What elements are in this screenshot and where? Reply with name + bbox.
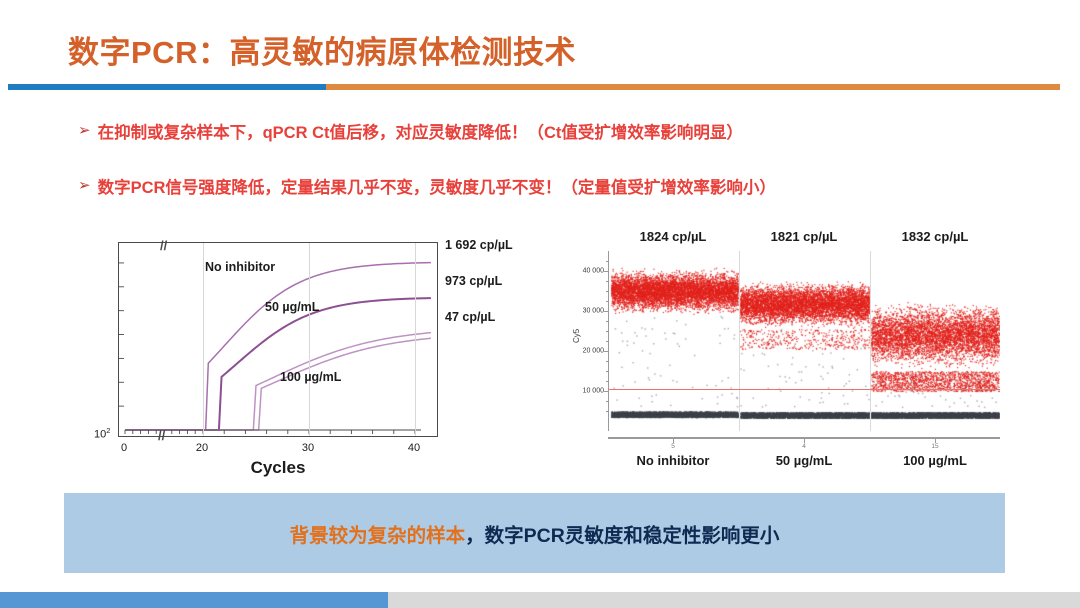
title-underline-orange xyxy=(326,84,1060,90)
qpcr-conc-label-3: 47 cp/µL xyxy=(445,310,545,324)
bullet-arrow-icon: ➢ xyxy=(78,178,91,193)
footer-strip-blue xyxy=(0,592,388,608)
qpcr-xaxis-ticklabels: 0203040 xyxy=(118,442,438,458)
ddpcr-ytick-10000: 10 000 xyxy=(583,388,604,395)
ddpcr-ytick-minor xyxy=(606,291,609,292)
ddpcr-ytick-minor xyxy=(606,371,609,372)
bullet-item-2: ➢ 数字PCR信号强度降低，定量结果几乎不变，灵敏度几乎不变！（定量值受扩增效率… xyxy=(78,174,776,198)
summary-banner-text: 背景较为复杂的样本，数字PCR灵敏度和稳定性影响更小 xyxy=(290,519,780,548)
summary-banner: 背景较为复杂的样本，数字PCR灵敏度和稳定性影响更小 xyxy=(64,493,1005,573)
footer-strip-gray xyxy=(388,592,1080,608)
ddpcr-xtick-label: 4 xyxy=(802,443,806,450)
qpcr-conc-label-1: 1 692 cp/µL xyxy=(445,238,545,252)
ddpcr-ytick-30000: 30 000 xyxy=(583,308,604,315)
summary-banner-highlight: 背景较为复杂的样本 xyxy=(290,525,466,547)
page-title: 数字PCR：高灵敏的病原体检测技术 xyxy=(68,27,576,72)
ddpcr-ytick-minor xyxy=(606,381,609,382)
bullet-text-2: 数字PCR信号强度降低，定量结果几乎不变，灵敏度几乎不变！（定量值受扩增效率影响… xyxy=(98,174,776,198)
ddpcr-concentration-1: 1824 cp/µL xyxy=(640,229,707,244)
ddpcr-ytick-20000: 20 000 xyxy=(583,348,604,355)
ddpcr-scatter-canvas xyxy=(609,251,1000,431)
summary-banner-rest: ，数字PCR灵敏度和稳定性影响更小 xyxy=(465,525,779,547)
qpcr-annotation-50ug: 50 µg/mL xyxy=(265,300,319,314)
qpcr-curve xyxy=(125,298,431,430)
ddpcr-group-labels: No inhibitor50 µg/mL100 µg/mL xyxy=(608,453,1003,473)
qpcr-ytick-label: 102 xyxy=(94,426,110,441)
ddpcr-ytick-minor xyxy=(606,311,609,312)
footer-strip xyxy=(0,592,1080,608)
ddpcr-yaxis-title: Cy5 xyxy=(572,329,581,343)
ddpcr-ytick-minor xyxy=(606,391,609,392)
qpcr-gridline xyxy=(309,243,310,436)
figure-row: // // 102 0203040 Cycles 1 692 cp/µL 973… xyxy=(0,225,1080,490)
qpcr-curve xyxy=(125,338,431,430)
qpcr-gridline xyxy=(415,243,416,436)
qpcr-xaxis-break-bottom: // xyxy=(158,428,165,443)
qpcr-annotation-100ug: 100 µg/mL xyxy=(280,370,341,384)
ddpcr-ytick-minor xyxy=(606,331,609,332)
ddpcr-ytick-40000: 40 000 xyxy=(583,268,604,275)
bullet-text-1: 在抑制或复杂样本下，qPCR Ct值后移，对应灵敏度降低！（Ct值受扩增效率影响… xyxy=(98,119,743,143)
ddpcr-ytick-minor xyxy=(606,341,609,342)
qpcr-amplification-chart: // // 102 0203040 Cycles 1 692 cp/µL 973… xyxy=(100,230,540,485)
title-underline-blue xyxy=(8,84,326,90)
ddpcr-xtick-label: 15 xyxy=(931,443,938,450)
ddpcr-ytick-minor xyxy=(606,351,609,352)
ddpcr-concentration-3: 1832 cp/µL xyxy=(902,229,969,244)
qpcr-xaxis-break-top: // xyxy=(160,238,167,253)
ddpcr-group-separator xyxy=(870,251,871,431)
ddpcr-ytick-minor xyxy=(606,261,609,262)
ddpcr-ytick-minor xyxy=(606,401,609,402)
ddpcr-group-label-1: No inhibitor xyxy=(637,453,710,468)
ddpcr-concentration-2: 1821 cp/µL xyxy=(771,229,838,244)
ddpcr-ytick-minor xyxy=(606,361,609,362)
ddpcr-threshold-line xyxy=(609,389,1000,390)
qpcr-plot-area xyxy=(118,242,438,437)
qpcr-curves xyxy=(119,243,439,438)
qpcr-conc-label-2: 973 cp/µL xyxy=(445,274,545,288)
slide-root: 数字PCR：高灵敏的病原体检测技术 ➢ 在抑制或复杂样本下，qPCR Ct值后移… xyxy=(0,0,1080,608)
ddpcr-ytick-minor xyxy=(606,271,609,272)
qpcr-gridline xyxy=(203,243,204,436)
bullet-arrow-icon: ➢ xyxy=(78,123,91,138)
ddpcr-plot-area xyxy=(608,251,1000,431)
ddpcr-ytick-minor xyxy=(606,411,609,412)
qpcr-xtick-0: 0 xyxy=(121,442,127,454)
qpcr-xtick-40: 40 xyxy=(408,442,420,454)
title-underline xyxy=(8,84,1060,90)
ddpcr-ytick-minor xyxy=(606,301,609,302)
ddpcr-concentration-labels: 1824 cp/µL1821 cp/µL1832 cp/µL xyxy=(608,229,1003,249)
ddpcr-droplet-chart: 1824 cp/µL1821 cp/µL1832 cp/µL 10 00020 … xyxy=(560,225,1010,487)
bullet-item-1: ➢ 在抑制或复杂样本下，qPCR Ct值后移，对应灵敏度降低！（Ct值受扩增效率… xyxy=(78,119,743,143)
ddpcr-ytick-minor xyxy=(606,281,609,282)
ddpcr-ytick-minor xyxy=(606,321,609,322)
qpcr-xaxis-title: Cycles xyxy=(118,458,438,478)
ddpcr-group-label-3: 100 µg/mL xyxy=(903,453,967,468)
ddpcr-group-label-2: 50 µg/mL xyxy=(776,453,833,468)
qpcr-xtick-20: 20 xyxy=(196,442,208,454)
ddpcr-xtick-label: 5 xyxy=(671,443,675,450)
qpcr-annotation-no-inhibitor: No inhibitor xyxy=(205,260,275,274)
qpcr-xtick-30: 30 xyxy=(302,442,314,454)
ddpcr-group-separator xyxy=(739,251,740,431)
qpcr-curve xyxy=(125,263,431,430)
qpcr-right-annotations: 1 692 cp/µL 973 cp/µL 47 cp/µL xyxy=(445,238,545,346)
